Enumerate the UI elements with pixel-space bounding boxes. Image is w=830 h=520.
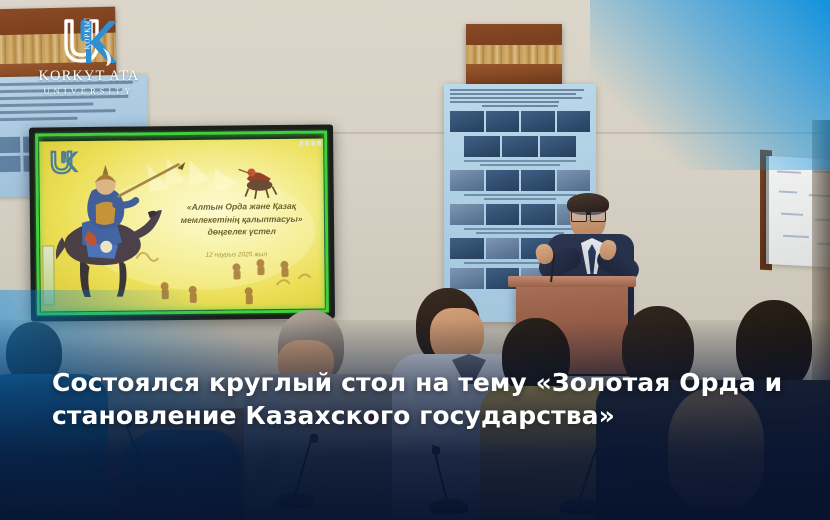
mic-base (430, 499, 468, 514)
mic-capsule (432, 446, 440, 455)
brand-name: KORKYT ATA (33, 68, 145, 85)
mic-stem (293, 435, 313, 499)
poster-photo-row (450, 111, 590, 132)
ku-monogram-icon: ҚОРҚЫТ (56, 18, 122, 70)
podium-top (508, 276, 636, 287)
kazakh-ornament-plaque-right (466, 24, 562, 86)
slide-date: 12 наурыз 2025 жыл (171, 251, 302, 259)
svg-text:ҚОРҚЫТ: ҚОРҚЫТ (84, 18, 92, 49)
table-microphone (560, 436, 600, 514)
brand-subtitle: UNIVERSITY (33, 86, 145, 96)
mic-capsule (596, 442, 604, 451)
mic-base (132, 483, 170, 498)
display-side-strip (42, 245, 55, 305)
display-indicator-lights (299, 141, 321, 146)
slide-title: «Алтын Орда және Қазақ мемлекетінің қалы… (165, 200, 319, 239)
table-microphone (430, 440, 470, 514)
news-banner-image: «Алтын Орда және Қазақ мемлекетінің қалы… (0, 0, 830, 520)
poster-photo-row (464, 136, 576, 157)
ornament-band (466, 45, 562, 64)
headline-caption: Состоялся круглый стол на тему «Золотая … (52, 367, 790, 432)
table-microphone (276, 430, 316, 508)
mic-stem (577, 442, 599, 505)
poster-header-text (450, 89, 590, 107)
korkyt-ata-university-logo: ҚОРҚЫТ KORKYT ATA UNIVERSITY (33, 18, 145, 100)
slide-content: «Алтын Орда және Қазақ мемлекетінің қалы… (39, 139, 325, 312)
presentation-display: «Алтын Орда және Қазақ мемлекетінің қалы… (29, 124, 335, 321)
poster-photo-row (450, 170, 590, 191)
ku-logo-icon (45, 147, 81, 181)
glasses-icon (571, 211, 606, 220)
mic-capsule (310, 434, 318, 443)
